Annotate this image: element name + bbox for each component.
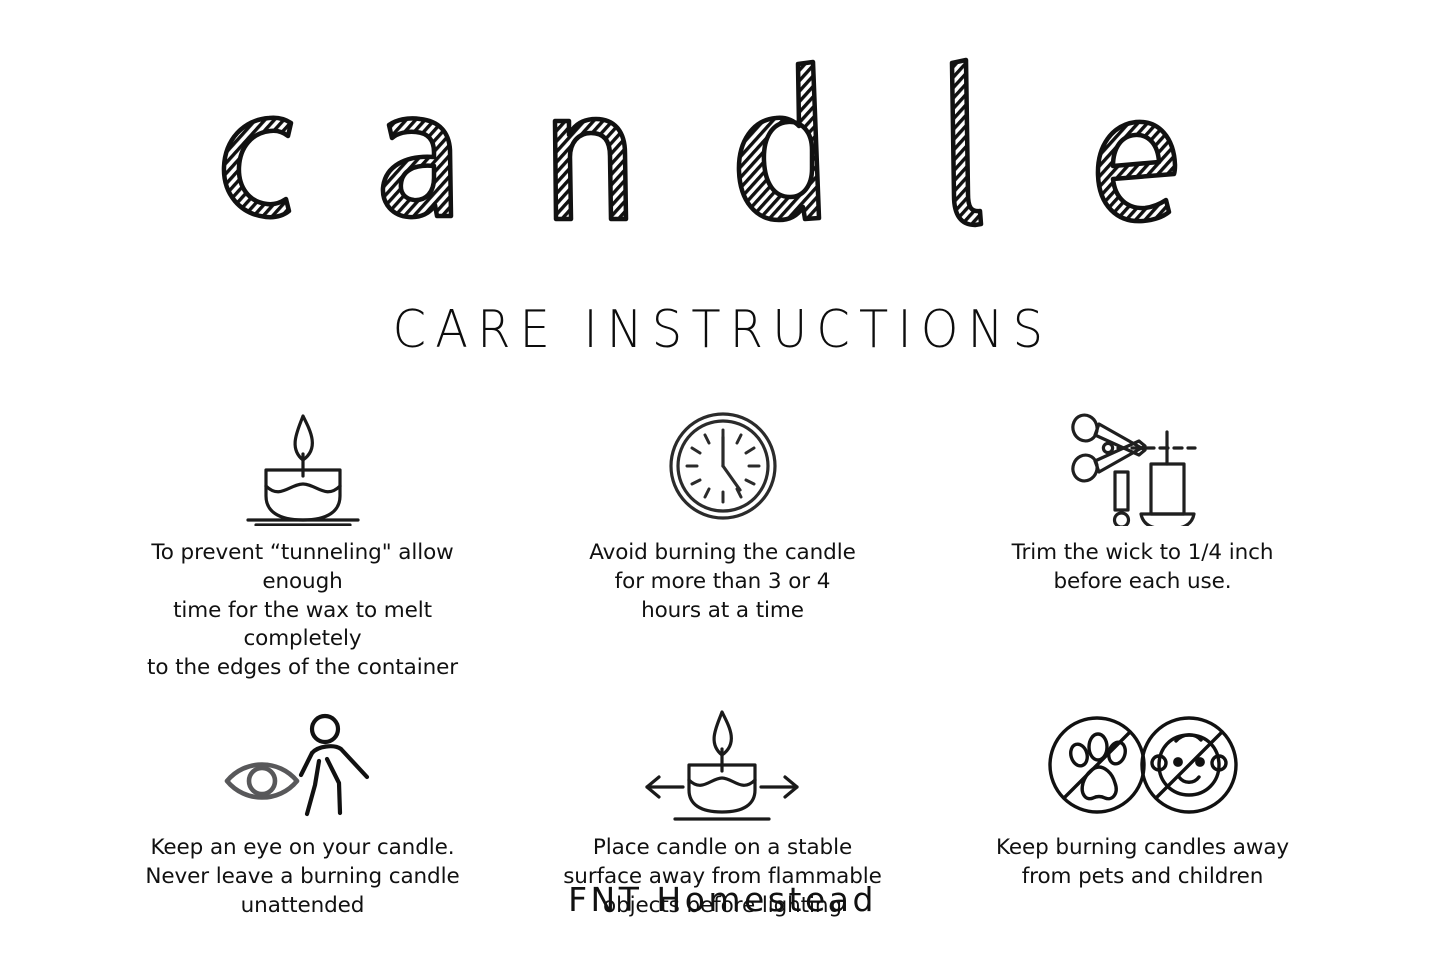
tip-item-burn-time: Avoid burning the candle for more than 3…	[513, 408, 933, 683]
tip-text: To prevent “tunneling" allow enough time…	[113, 539, 493, 683]
candle-jar-icon	[228, 408, 378, 526]
page-title	[173, 52, 1273, 242]
candle-care-instructions-poster: CARE INSTRUCTIONS To prevent “tunneling"…	[0, 0, 1445, 963]
title-candle-sketch	[173, 52, 1273, 242]
eye-walking-person-icon	[215, 709, 390, 821]
tip-item-tunneling: To prevent “tunneling" allow enough time…	[93, 408, 513, 683]
page-subtitle: CARE INSTRUCTIONS	[393, 304, 1052, 356]
scissors-trim-wick-icon	[1063, 408, 1223, 526]
footer-brand: FNT Homestead	[0, 880, 1445, 919]
no-pets-no-children-icon	[1043, 709, 1243, 821]
tip-text: Avoid burning the candle for more than 3…	[589, 539, 855, 625]
clock-icon	[648, 408, 798, 526]
tip-text: Trim the wick to 1/4 inch before each us…	[1012, 539, 1274, 597]
candle-stable-surface-arrows-icon	[635, 709, 810, 821]
tips-grid: To prevent “tunneling" allow enough time…	[93, 408, 1353, 920]
tip-item-trim-wick: Trim the wick to 1/4 inch before each us…	[933, 408, 1353, 683]
